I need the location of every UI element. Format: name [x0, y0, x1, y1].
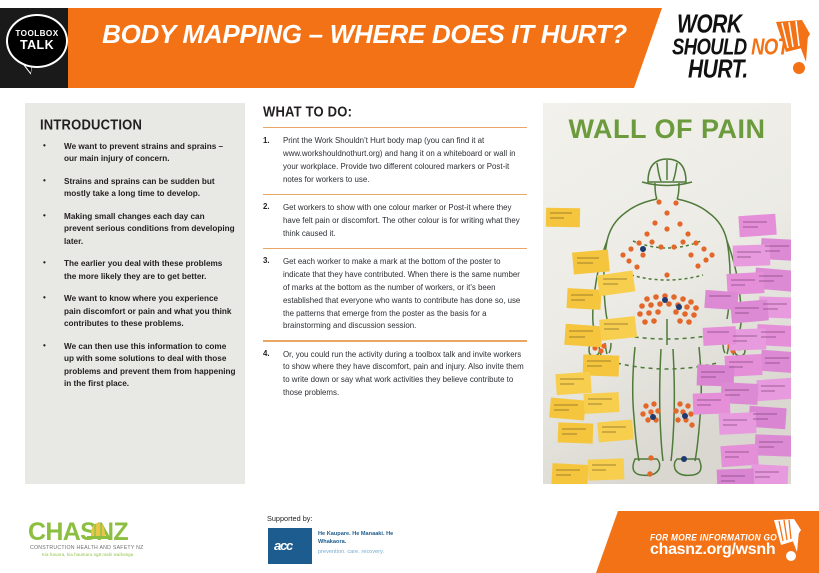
chasnz-logo: CHASNZ CONSTRUCTION HEALTH AND SAFETY NZ…: [28, 518, 176, 564]
step-text: Or, you could run the activity during a …: [283, 349, 527, 401]
step-number: 4.: [263, 349, 276, 401]
page-header: TOOLBOX TALK BODY MAPPING – WHERE DOES I…: [0, 0, 819, 88]
introduction-panel: INTRODUCTION We want to prevent strains …: [25, 103, 245, 484]
acc-wordmark: acc: [274, 538, 292, 553]
page-title: BODY MAPPING – WHERE DOES IT HURT?: [87, 23, 643, 49]
acc-tagline-maori: He Kaupare. He Manaaki. He Whakaora.: [318, 531, 402, 547]
introduction-heading: INTRODUCTION: [40, 116, 142, 133]
logo-word-hurt: HURT.: [688, 55, 748, 85]
photo-heading-text: WALL OF PAIN: [569, 114, 766, 144]
step-text: Get each worker to make a mark at the bo…: [283, 256, 527, 333]
step-item: 3. Get each worker to make a mark at the…: [263, 256, 527, 333]
list-item: Strains and sprains can be sudden but mo…: [38, 176, 236, 201]
toolbox-badge-line1: TOOLBOX: [15, 30, 58, 38]
divider: [263, 127, 527, 128]
step-number: 3.: [263, 256, 276, 333]
divider: [263, 248, 527, 249]
safety-cone-icon: [770, 517, 804, 562]
list-item: We can then use this information to come…: [38, 341, 236, 391]
what-to-do-heading: WHAT TO DO:: [263, 103, 352, 120]
what-to-do-section: WHAT TO DO: 1. Print the Work Shouldn’t …: [263, 103, 527, 407]
chasnz-tagline: CONSTRUCTION HEALTH AND SAFETY NZ: [30, 545, 144, 551]
divider: [263, 340, 527, 341]
hard-hat-icon: [83, 517, 113, 541]
list-item: Making small changes each day can preven…: [38, 211, 236, 248]
list-item: We want to know where you experience pai…: [38, 293, 236, 330]
introduction-bullet-list: We want to prevent strains and sprains –…: [38, 141, 236, 401]
divider: [263, 194, 527, 195]
step-number: 2.: [263, 202, 276, 241]
acc-tagline-english: prevention. care. recovery.: [318, 549, 402, 555]
toolbox-talk-badge: TOOLBOX TALK: [6, 14, 68, 68]
wall-of-pain-illustration: WALL OF PAIN: [543, 103, 791, 484]
acc-tagline-block: He Kaupare. He Manaaki. He Whakaora. pre…: [318, 531, 402, 555]
list-item: The earlier you deal with these problems…: [38, 258, 236, 283]
step-text: Get workers to show with one colour mark…: [283, 202, 527, 241]
cta-url[interactable]: chasnz.org/wsnh: [650, 541, 775, 559]
list-item: We want to prevent strains and sprains –…: [38, 141, 236, 166]
work-should-not-hurt-logo: WORK SHOULD NOT HURT.: [672, 13, 814, 81]
wall-of-pain-photo: WALL OF PAIN: [543, 103, 791, 484]
step-item: 2. Get workers to show with one colour m…: [263, 202, 527, 241]
safety-cone-icon: [772, 18, 814, 76]
step-number: 1.: [263, 135, 276, 187]
chasnz-tagline-maori: Kia hauora, kia haumaru ngā mahi waihang…: [42, 552, 133, 557]
step-text: Print the Work Shouldn’t Hurt body map (…: [283, 135, 527, 187]
step-item: 1. Print the Work Shouldn’t Hurt body ma…: [263, 135, 527, 187]
supported-by-block: Supported by: acc He Kaupare. He Manaaki…: [267, 514, 402, 564]
supported-by-label: Supported by:: [267, 514, 312, 523]
toolbox-badge-line2: TALK: [20, 38, 54, 52]
step-item: 4. Or, you could run the activity during…: [263, 349, 527, 401]
